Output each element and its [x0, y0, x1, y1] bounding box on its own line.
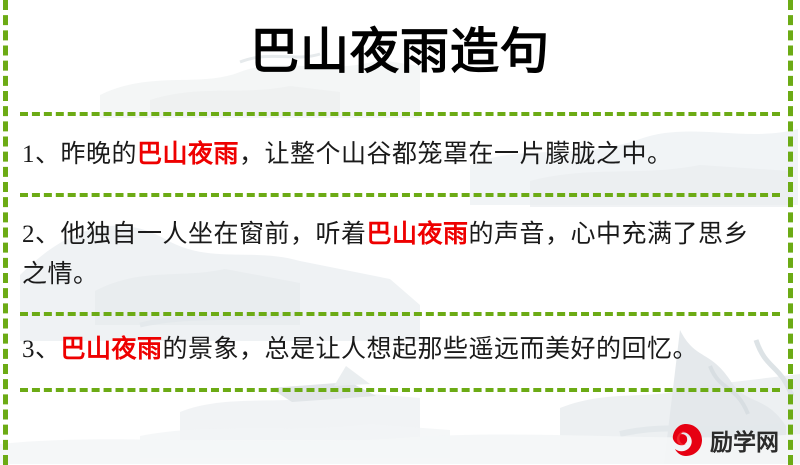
keyword-highlight-3: 巴山夜雨 — [61, 336, 163, 363]
divider-after-sentence-1 — [20, 193, 780, 197]
sentence-item-3: 3、巴山夜雨的景象，总是让人想起那些遥远而美好的回忆。 — [22, 330, 774, 370]
keyword-highlight-1: 巴山夜雨 — [137, 141, 239, 168]
page-root: 巴山夜雨造句 1、昨晚的巴山夜雨，让整个山谷都笼罩在一片朦胧之中。 2、他独自一… — [0, 0, 800, 465]
keyword-highlight-2: 巴山夜雨 — [367, 221, 469, 248]
dashed-border-right — [788, 0, 793, 465]
dashed-border-left — [3, 0, 8, 465]
divider-after-sentence-3 — [20, 388, 780, 392]
sentence-number-2: 2、 — [22, 221, 61, 248]
page-title: 巴山夜雨造句 — [0, 22, 800, 82]
sentence-text-before-2: 他独自一人坐在窗前，听着 — [61, 221, 367, 248]
sentence-number-3: 3、 — [22, 336, 61, 363]
site-watermark-text: 励学网 — [710, 423, 779, 457]
red-swirl-flame-icon — [668, 422, 704, 458]
content-area: 巴山夜雨造句 1、昨晚的巴山夜雨，让整个山谷都笼罩在一片朦胧之中。 2、他独自一… — [0, 0, 800, 465]
sentence-text-after-1: ，让整个山谷都笼罩在一片朦胧之中。 — [239, 141, 673, 168]
sentence-text-after-3: 的景象，总是让人想起那些遥远而美好的回忆。 — [163, 336, 699, 363]
sentence-number-1: 1、 — [22, 141, 61, 168]
sentence-item-2: 2、他独自一人坐在窗前，听着巴山夜雨的声音，心中充满了思乡之情。 — [22, 215, 774, 295]
sentence-text-before-1: 昨晚的 — [61, 141, 138, 168]
divider-below-title — [20, 112, 780, 116]
site-watermark-logo: 励学网 — [668, 419, 788, 461]
sentence-item-1: 1、昨晚的巴山夜雨，让整个山谷都笼罩在一片朦胧之中。 — [22, 135, 774, 175]
divider-after-sentence-2 — [20, 312, 780, 316]
